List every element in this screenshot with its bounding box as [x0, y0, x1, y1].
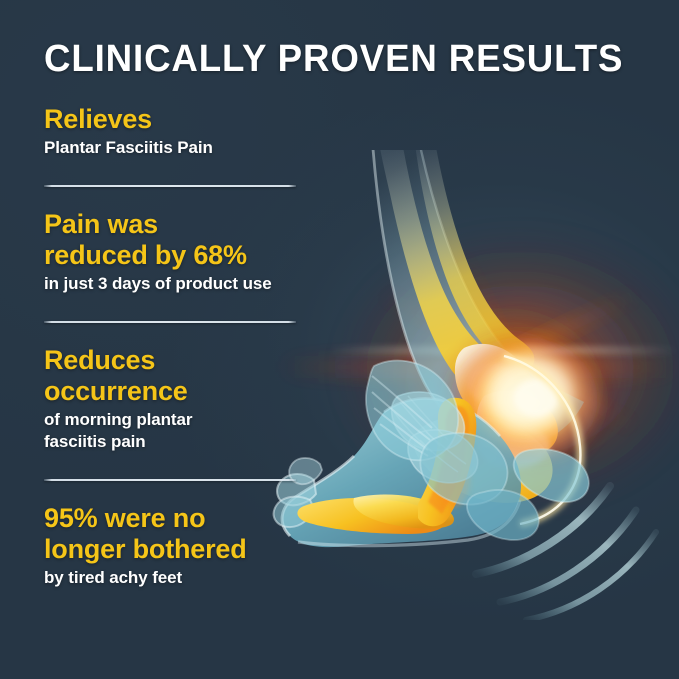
benefit-2-headline-line2: reduced by 68% — [44, 240, 306, 271]
benefit-3-subtext-line2: fasciitis pain — [44, 431, 306, 453]
benefit-3-headline-line2: occurrence — [44, 376, 306, 407]
spacer — [44, 481, 306, 503]
leg-bones — [378, 150, 535, 425]
benefit-3-subtext: of morning plantar — [44, 409, 306, 431]
benefit-2-headline: Pain was — [44, 209, 306, 240]
benefit-4-headline-line2: longer bothered — [44, 534, 306, 565]
forefoot-bones — [297, 398, 476, 534]
benefit-item-3: Reduces occurrence of morning plantar fa… — [44, 345, 306, 453]
benefit-item-4: 95% were no longer bothered by tired ach… — [44, 503, 306, 589]
lower-leg-skin — [372, 150, 584, 447]
benefit-2-subtext: in just 3 days of product use — [44, 273, 306, 295]
benefit-1-subtext: Plantar Fasciitis Pain — [44, 137, 306, 159]
spacer — [44, 159, 306, 185]
spacer — [44, 295, 306, 321]
ankle-wrap — [366, 361, 507, 505]
pain-flare-rays — [278, 247, 678, 477]
motion-arcs — [476, 486, 656, 620]
page-title: CLINICALLY PROVEN RESULTS — [44, 36, 623, 82]
spacer — [44, 453, 306, 479]
benefit-4-subtext: by tired achy feet — [44, 567, 306, 589]
infographic-poster: CLINICALLY PROVEN RESULTS Relieves Plant… — [0, 0, 679, 679]
heel-glow-outline — [504, 356, 580, 524]
heel-bones — [414, 391, 558, 503]
pain-haze — [335, 230, 679, 510]
benefit-3-headline: Reduces — [44, 345, 306, 376]
spacer — [44, 187, 306, 209]
benefits-list: Relieves Plantar Fasciitis Pain Pain was… — [44, 104, 306, 589]
foot-skin — [282, 399, 521, 548]
benefit-item-1: Relieves Plantar Fasciitis Pain — [44, 104, 306, 159]
glow-overlay — [478, 348, 598, 452]
benefit-4-headline: 95% were no — [44, 503, 306, 534]
midfoot-bones — [392, 392, 478, 483]
foot-anatomy-illustration — [268, 150, 679, 620]
benefit-item-2: Pain was reduced by 68% in just 3 days o… — [44, 209, 306, 295]
pain-glow-core — [438, 326, 610, 474]
benefit-1-headline: Relieves — [44, 104, 306, 135]
achilles-band — [467, 449, 589, 540]
spacer — [44, 323, 306, 345]
